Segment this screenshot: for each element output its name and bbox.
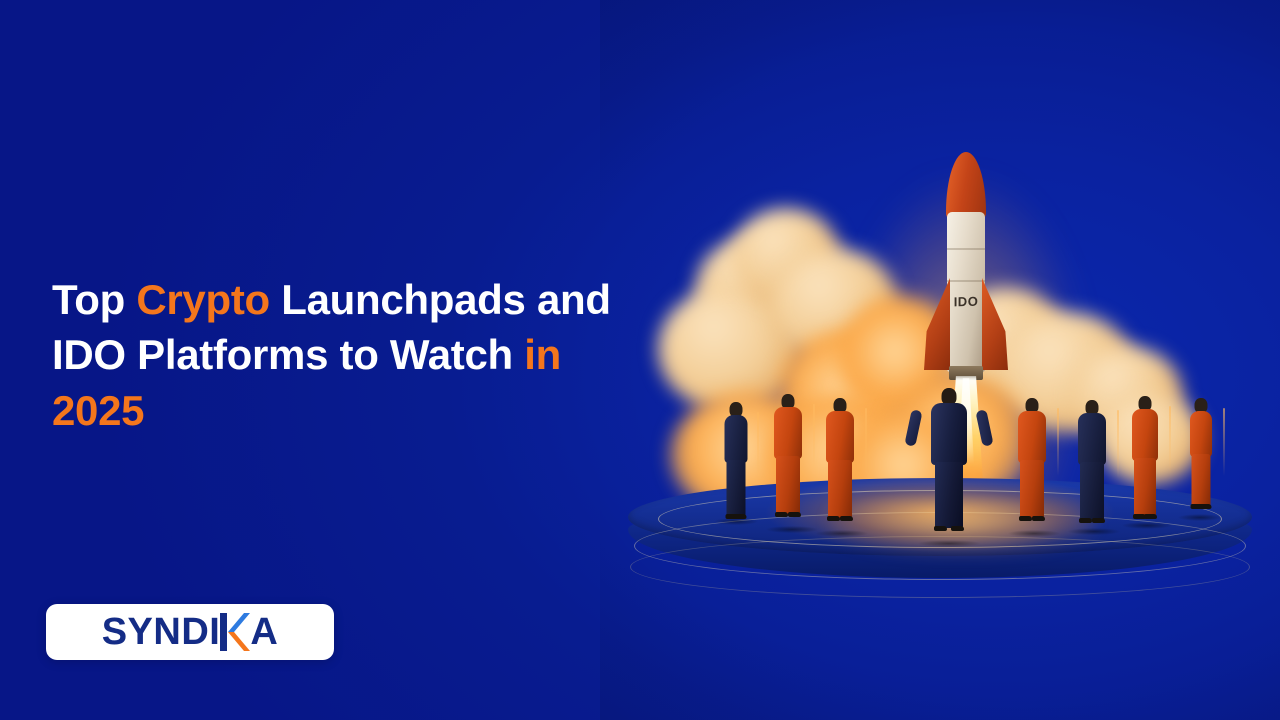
figure-engineer-left-inner <box>814 398 866 534</box>
figure-shoe <box>1079 518 1092 523</box>
figure-engineer-left-outer <box>762 394 814 530</box>
figure-observer-far-left <box>714 402 758 524</box>
logo-k-icon <box>220 613 250 651</box>
blog-banner: IDO <box>0 0 1280 720</box>
rocket-body-band <box>947 280 985 282</box>
figure-shoe <box>934 526 947 531</box>
figure-shoe <box>827 516 840 521</box>
figure-shoe <box>1032 516 1045 521</box>
rocket-body <box>947 212 985 372</box>
figure-legs <box>1080 462 1104 520</box>
rocket: IDO <box>918 152 1014 382</box>
figure-shoe <box>1092 518 1105 523</box>
rocket-ido-label: IDO <box>947 293 985 309</box>
rocket-fin-right <box>982 278 1008 370</box>
rocket-body-band <box>947 248 985 250</box>
page-title: Top Crypto Launchpads and IDO Platforms … <box>52 272 652 438</box>
figure-legs <box>1134 458 1156 516</box>
headline-segment-1: Top <box>52 276 136 323</box>
logo-text-after-k: A <box>250 613 278 651</box>
figure-hero-executive <box>914 388 984 544</box>
figure-torso <box>1078 413 1106 465</box>
logo-text-before-k: SYNDI <box>102 613 221 651</box>
figure-engineer-right-inner <box>1006 398 1058 534</box>
figure-torso <box>774 407 802 459</box>
figure-legs <box>1192 454 1211 506</box>
figure-legs <box>935 462 963 528</box>
figure-shoe <box>734 514 747 519</box>
figure-legs <box>1020 460 1044 518</box>
headline-accent-crypto: Crypto <box>136 276 270 323</box>
rocket-launch-illustration: IDO <box>600 0 1280 720</box>
rocket-fin-left <box>924 278 950 370</box>
syndika-logo[interactable]: SYNDI A <box>46 604 334 660</box>
logo-wordmark: SYNDI A <box>102 613 279 651</box>
figure-rim-light <box>1169 406 1171 474</box>
figure-shoe <box>1019 516 1032 521</box>
figure-torso <box>1018 411 1046 463</box>
figure-torso <box>1190 411 1212 457</box>
figure-shoe <box>788 512 801 517</box>
figure-torso <box>725 415 748 463</box>
figure-rim-light <box>757 412 759 480</box>
figure-rim-light <box>865 408 867 476</box>
figure-rim-light <box>1117 410 1119 478</box>
figure-engineer-far-right <box>1178 398 1224 518</box>
figure-torso <box>931 403 967 465</box>
figure-shoe <box>1199 504 1212 509</box>
figure-torso <box>826 411 854 463</box>
rocket-nose-cone <box>946 152 986 220</box>
figure-torso <box>1132 409 1158 461</box>
figure-legs <box>828 460 852 518</box>
figure-shoe <box>1144 514 1157 519</box>
figure-executive-right <box>1066 400 1118 532</box>
figure-rim-light <box>1057 408 1059 476</box>
figure-legs <box>727 460 746 516</box>
figure-shoe <box>840 516 853 521</box>
figure-shoe <box>775 512 788 517</box>
figure-legs <box>776 456 800 514</box>
figure-shoe <box>951 526 964 531</box>
figure-rim-light <box>1223 408 1225 476</box>
figure-engineer-right-outer <box>1120 396 1170 526</box>
